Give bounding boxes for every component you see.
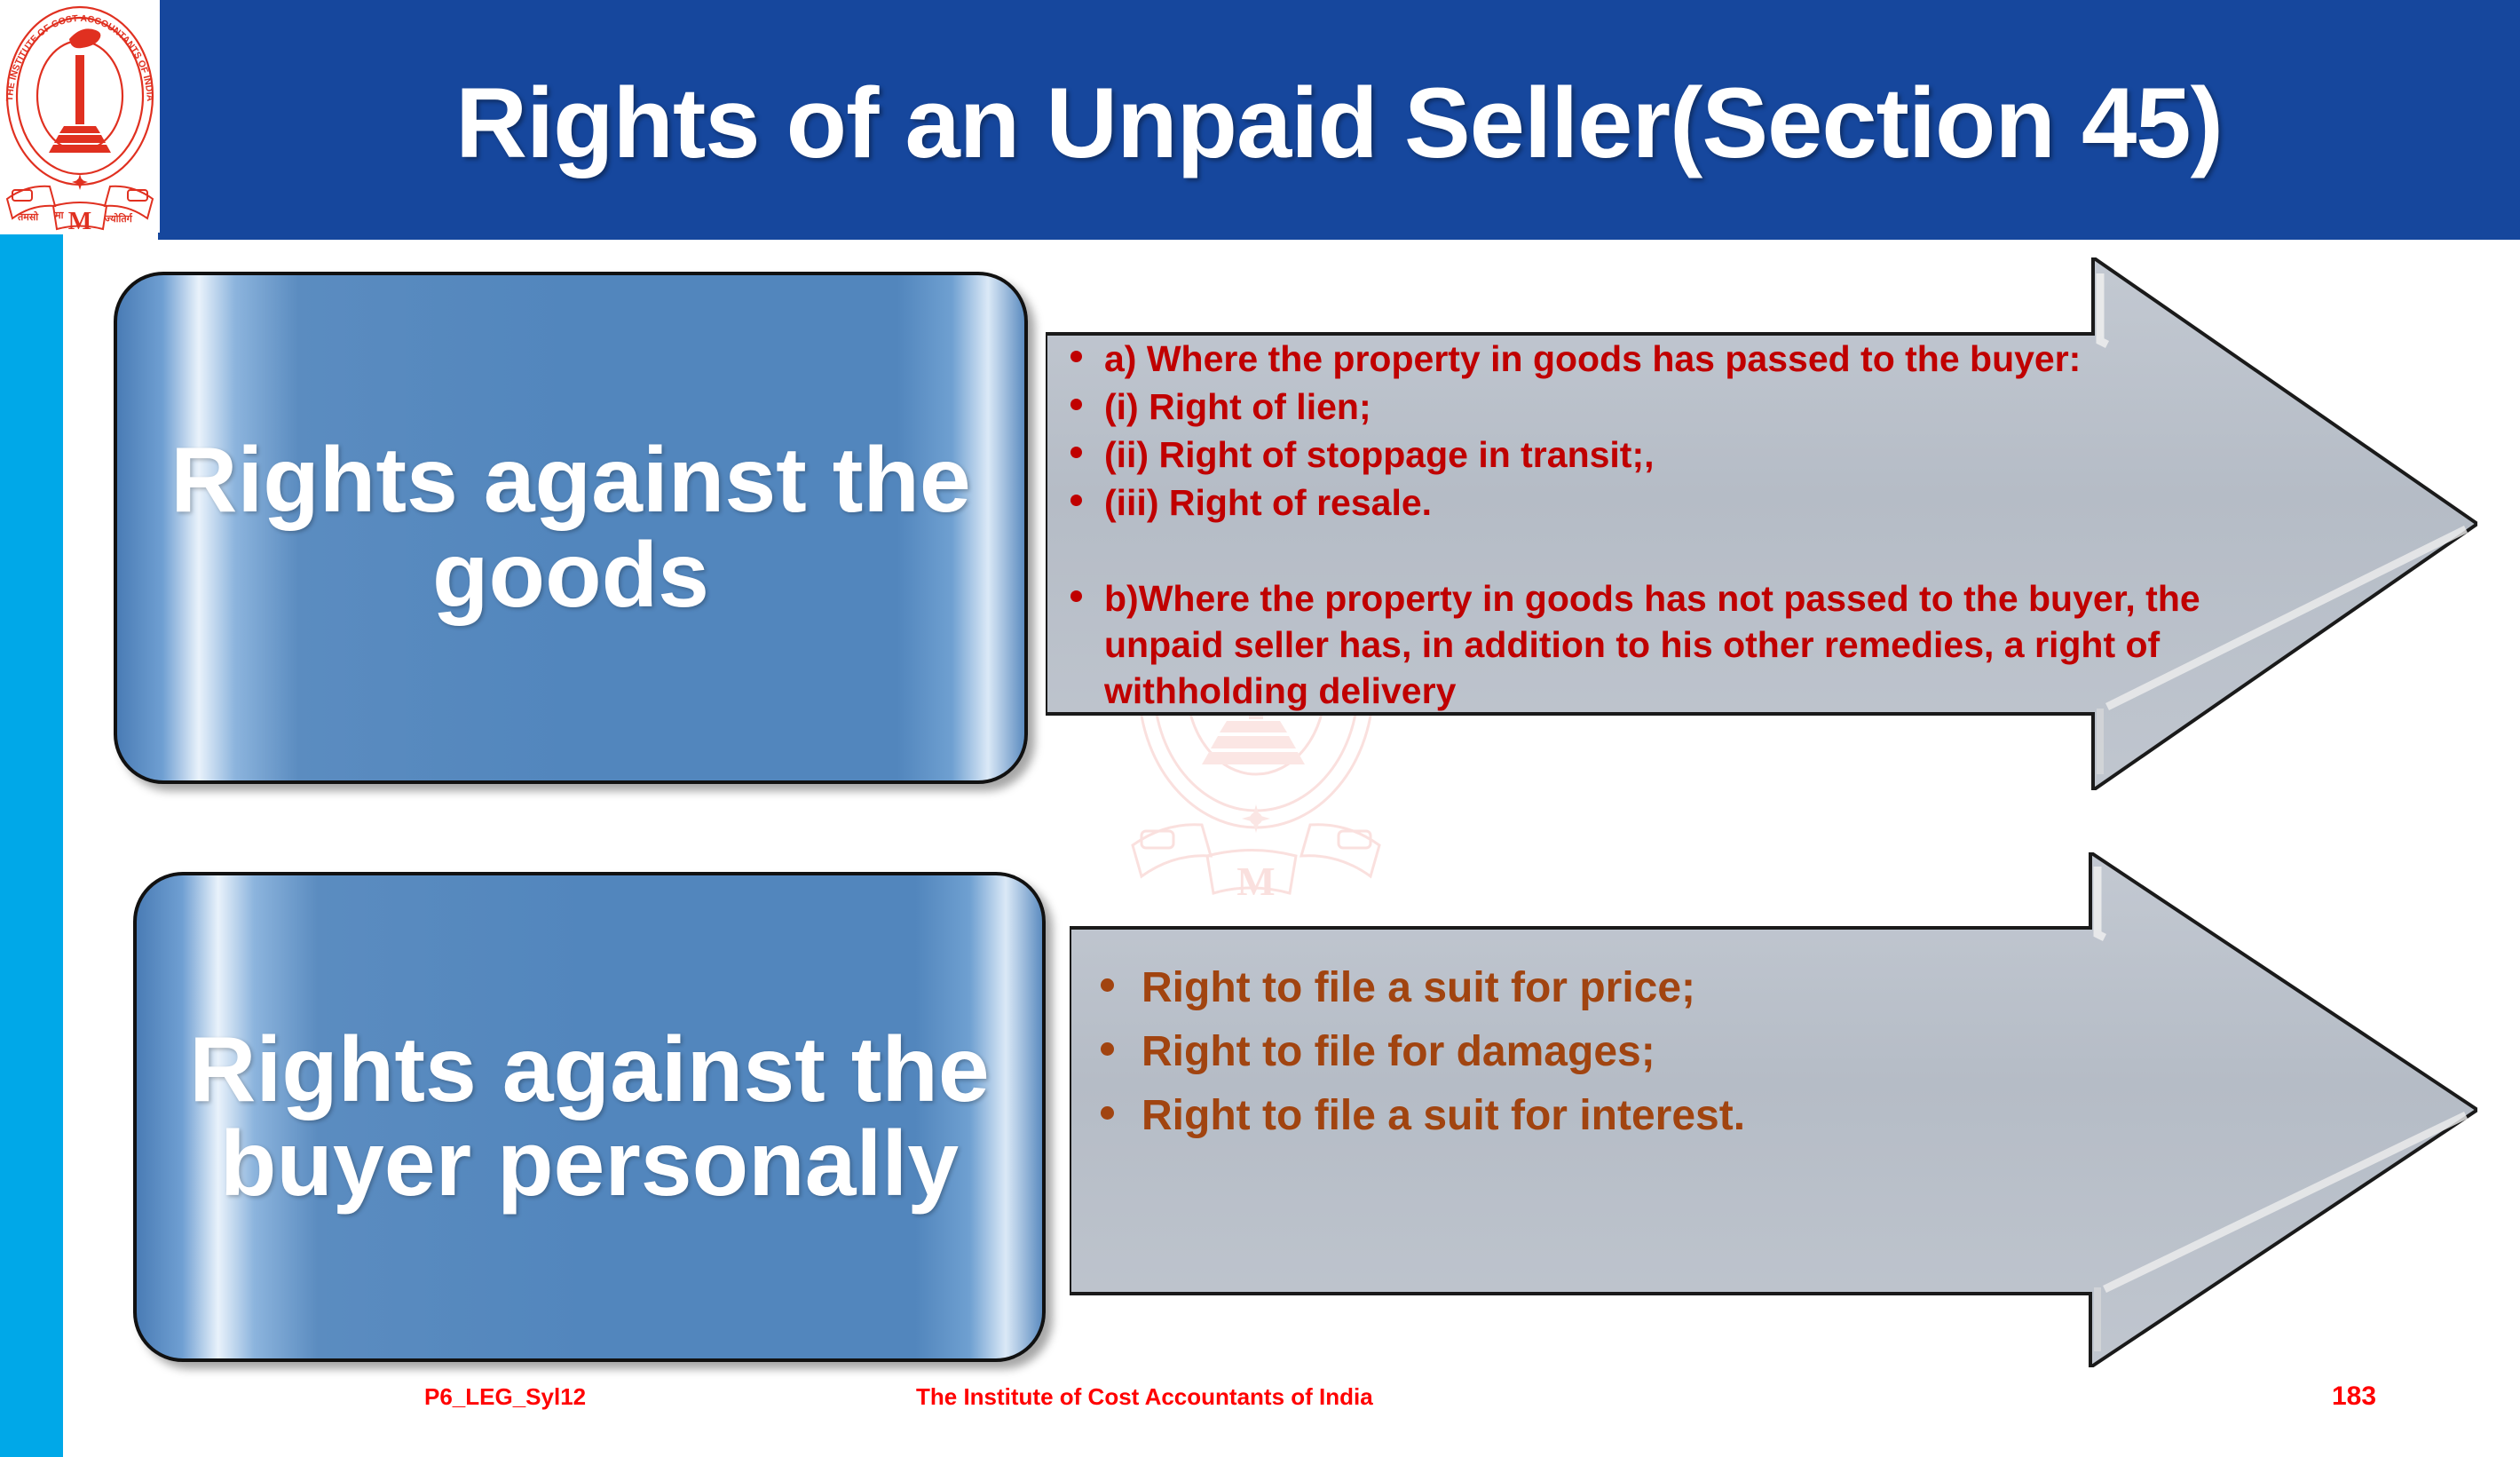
list-item: (iii) Right of resale.: [1065, 479, 2290, 526]
bullet-text: b)Where the property in goods has not pa…: [1104, 578, 2200, 711]
svg-text:ज्योतिर्ग: ज्योतिर्ग: [104, 212, 133, 225]
slide-footer: P6_LEG_Syl12 The Institute of Cost Accou…: [0, 1374, 2520, 1428]
list-item: (ii) Right of stoppage in transit;,: [1065, 432, 2290, 478]
bullet-dot-icon: [1101, 1042, 1114, 1056]
page-title: Rights of an Unpaid Seller(Section 45): [158, 39, 2520, 208]
callout-label: Rights against the goods: [117, 433, 1024, 622]
callout-label: Rights against the buyer personally: [137, 1023, 1042, 1211]
arrow-2-content: Right to file a suit for price; Right to…: [1094, 961, 2247, 1152]
bullet-text: (ii) Right of stoppage in transit;,: [1104, 434, 1655, 475]
bullet-dot-icon: [1070, 495, 1082, 506]
bullet-text: (iii) Right of resale.: [1104, 482, 1432, 523]
institute-logo: तमसो मा ज्योतिर्ग M THE INSTITUTE OF COS…: [0, 0, 160, 233]
svg-text:तमसो: तमसो: [17, 210, 39, 223]
callout-rights-against-goods: Rights against the goods: [114, 272, 1028, 784]
callout-rights-against-buyer: Rights against the buyer personally: [133, 872, 1046, 1362]
list-item: b)Where the property in goods has not pa…: [1065, 575, 2290, 714]
footer-course-code: P6_LEG_Syl12: [424, 1383, 586, 1411]
bullet-dot-icon: [1070, 351, 1082, 362]
bullet-dot-icon: [1101, 978, 1114, 992]
bullet-list-goods: a) Where the property in goods has passe…: [1065, 336, 2290, 714]
bullet-dot-icon: [1101, 1106, 1114, 1120]
list-item: Right to file a suit for price;: [1094, 961, 2247, 1016]
left-accent-strip: [0, 234, 63, 1457]
list-item: Right to file a suit for interest.: [1094, 1089, 2247, 1144]
bullet-text: Right to file a suit for price;: [1142, 964, 1695, 1011]
footer-page-number: 183: [2332, 1382, 2376, 1412]
bullet-text: Right to file a suit for interest.: [1142, 1092, 1745, 1139]
footer-organization: The Institute of Cost Accountants of Ind…: [916, 1383, 1373, 1411]
bullet-dot-icon: [1070, 590, 1082, 602]
list-item: (i) Right of lien;: [1065, 384, 2290, 430]
list-item: Right to file for damages;: [1094, 1025, 2247, 1080]
bullet-text: (i) Right of lien;: [1104, 386, 1371, 427]
list-item: a) Where the property in goods has passe…: [1065, 336, 2290, 382]
arrow-1-content: a) Where the property in goods has passe…: [1065, 336, 2290, 716]
svg-text:मा: मा: [54, 210, 65, 221]
svg-text:M: M: [68, 208, 91, 233]
bullet-list-buyer: Right to file a suit for price; Right to…: [1094, 961, 2247, 1144]
bullet-text: a) Where the property in goods has passe…: [1104, 338, 2081, 379]
bullet-text: Right to file for damages;: [1142, 1028, 1655, 1075]
slide-canvas: Rights of an Unpaid Seller(Section 45): [0, 0, 2520, 1457]
bullet-dot-icon: [1070, 447, 1082, 458]
bullet-dot-icon: [1070, 399, 1082, 410]
